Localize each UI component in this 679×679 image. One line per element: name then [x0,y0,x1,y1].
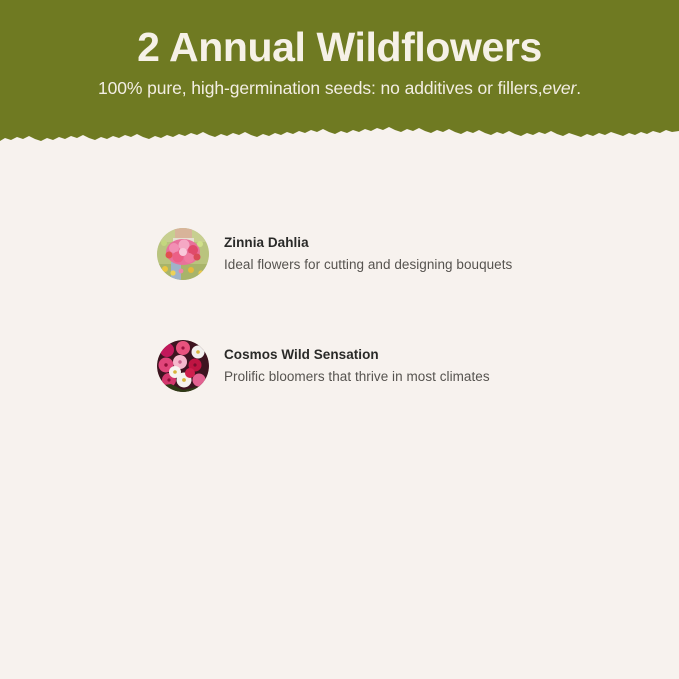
page-title: 2 Annual Wildflowers [0,0,679,68]
feature-text-block: Zinnia Dahlia Ideal flowers for cutting … [209,234,512,274]
zinnia-dahlia-thumbnail-art [157,228,209,280]
list-item-description: Ideal flowers for cutting and designing … [224,252,512,274]
feature-text-block: Cosmos Wild Sensation Prolific bloomers … [209,346,490,386]
banner-content: 2 Annual Wildflowers 100% pure, high-ger… [0,0,679,98]
feature-list: Zinnia Dahlia Ideal flowers for cutting … [0,222,679,446]
list-item: Cosmos Wild Sensation Prolific bloomers … [0,334,679,398]
cosmos-wild-sensation-photo [157,340,209,392]
cosmos-wild-sensation-thumbnail-art [157,340,209,392]
zinnia-dahlia-photo [157,228,209,280]
list-item: Zinnia Dahlia Ideal flowers for cutting … [0,222,679,286]
subtitle-lead-text: 100% pure, high-germination seeds: no ad… [98,78,543,98]
subtitle-emphasis-text: ever [543,78,577,98]
list-item-description: Prolific bloomers that thrive in most cl… [224,364,490,386]
header-banner: 2 Annual Wildflowers 100% pure, high-ger… [0,0,679,142]
list-item-title: Zinnia Dahlia [224,234,512,252]
list-item-title: Cosmos Wild Sensation [224,346,490,364]
page-subtitle: 100% pure, high-germination seeds: no ad… [0,68,679,98]
subtitle-tail-text: . [576,78,581,98]
